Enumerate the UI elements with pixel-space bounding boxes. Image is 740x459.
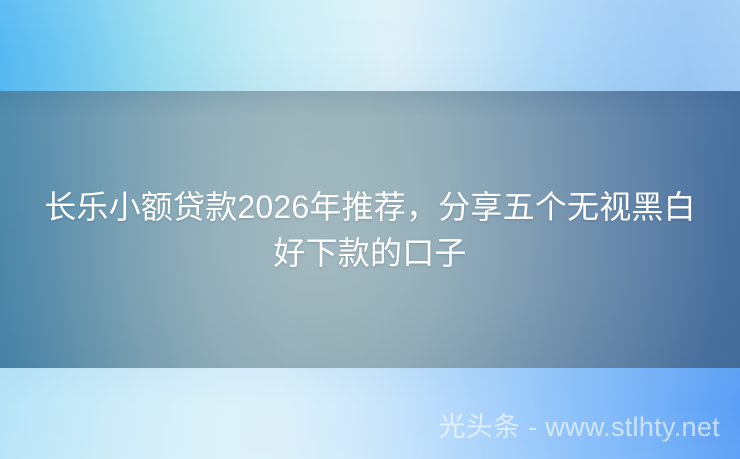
headline-container: 长乐小额贷款2026年推荐，分享五个无视黑白好下款的口子 bbox=[0, 91, 740, 368]
top-gradient-band bbox=[0, 0, 740, 91]
banner-image: 长乐小额贷款2026年推荐，分享五个无视黑白好下款的口子 光头条 - www.s… bbox=[0, 0, 740, 459]
site-watermark: 光头条 - www.stlhty.net bbox=[438, 410, 720, 444]
headline-text: 长乐小额贷款2026年推荐，分享五个无视黑白好下款的口子 bbox=[40, 184, 700, 276]
top-band-shading bbox=[0, 0, 740, 91]
